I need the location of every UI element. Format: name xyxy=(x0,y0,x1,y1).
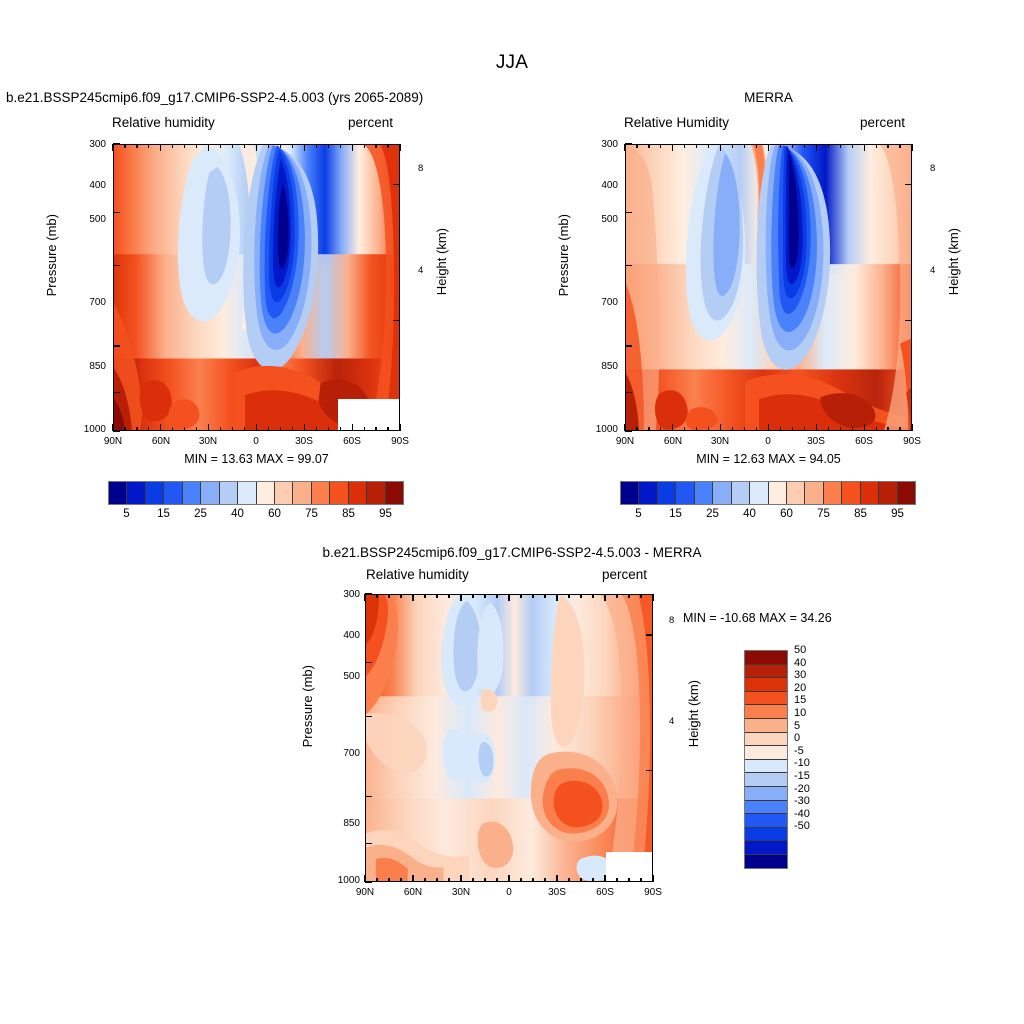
model-xtick-90S: 90S xyxy=(386,436,414,447)
obs-contour-plot[interactable] xyxy=(625,144,912,431)
colorbar-tick-label: 15 xyxy=(794,694,810,707)
obs-contour-field xyxy=(626,145,911,430)
obs-ytick-400: 400 xyxy=(590,180,618,191)
colorbar-cell[interactable] xyxy=(238,482,256,504)
colorbar-tick-label: 75 xyxy=(297,508,327,520)
colorbar-cell[interactable] xyxy=(658,482,676,504)
diff-colorbar-labels: 50403020151050-5-10-15-20-30-40-50 xyxy=(794,644,810,833)
colorbar-cell[interactable] xyxy=(127,482,145,504)
model-xtick-30N: 30N xyxy=(194,436,222,447)
obs-variable-label: Relative Humidity xyxy=(624,115,729,130)
colorbar-cell[interactable] xyxy=(349,482,367,504)
colorbar-tick-label: 5 xyxy=(112,508,142,520)
colorbar-cell[interactable] xyxy=(330,482,348,504)
diff-ytick-400: 400 xyxy=(332,630,360,641)
colorbar-cell[interactable] xyxy=(676,482,694,504)
model-ytick-1000: 1000 xyxy=(74,424,106,435)
colorbar-cell[interactable] xyxy=(824,482,842,504)
colorbar-cell[interactable] xyxy=(769,482,787,504)
colorbar-cell[interactable] xyxy=(745,855,787,868)
colorbar-tick-label: 95 xyxy=(883,508,913,520)
colorbar-tick-label: 25 xyxy=(698,508,728,520)
colorbar-cell[interactable] xyxy=(745,787,787,801)
obs-colorbar[interactable] xyxy=(620,481,916,505)
colorbar-cell[interactable] xyxy=(257,482,275,504)
diff-xtick-90S: 90S xyxy=(639,887,667,898)
colorbar-tick-label: 85 xyxy=(846,508,876,520)
colorbar-cell[interactable] xyxy=(220,482,238,504)
colorbar-tick-label: 50 xyxy=(794,644,810,657)
colorbar-cell[interactable] xyxy=(275,482,293,504)
colorbar-cell[interactable] xyxy=(695,482,713,504)
colorbar-cell[interactable] xyxy=(745,746,787,760)
colorbar-cell[interactable] xyxy=(750,482,768,504)
colorbar-cell[interactable] xyxy=(842,482,860,504)
colorbar-tick-label: 20 xyxy=(794,682,810,695)
diff-xtick-30S: 30S xyxy=(543,887,571,898)
colorbar-tick-label: 40 xyxy=(794,657,810,670)
colorbar-cell[interactable] xyxy=(621,482,639,504)
diff-ytick-1000: 1000 xyxy=(328,875,360,886)
model-panel-title: b.e21.BSSP245cmip6.f09_g17.CMIP6-SSP2-4.… xyxy=(6,90,423,105)
colorbar-cell[interactable] xyxy=(732,482,750,504)
colorbar-tick-label: 5 xyxy=(624,508,654,520)
colorbar-tick-label: -5 xyxy=(794,745,810,758)
model-xtick-90N: 90N xyxy=(99,436,127,447)
colorbar-cell[interactable] xyxy=(639,482,657,504)
model-contour-plot[interactable] xyxy=(113,144,400,431)
colorbar-tick-label: 5 xyxy=(794,720,810,733)
obs-y2tick-4: 4 xyxy=(930,265,935,276)
diff-y2axis-title: Height (km) xyxy=(686,680,701,747)
diff-yaxis-title: Pressure (mb) xyxy=(300,665,315,747)
colorbar-tick-label: 60 xyxy=(772,508,802,520)
model-ytick-500: 500 xyxy=(78,214,106,225)
obs-panel-title: MERRA xyxy=(625,90,912,105)
diff-xtick-90N: 90N xyxy=(351,887,379,898)
obs-xtick-90S: 90S xyxy=(898,436,926,447)
diff-colorbar-group[interactable]: 50403020151050-5-10-15-20-30-40-50 xyxy=(744,650,788,869)
colorbar-tick-label: 95 xyxy=(371,508,401,520)
colorbar-tick-label: -40 xyxy=(794,808,810,821)
colorbar-cell[interactable] xyxy=(787,482,805,504)
colorbar-cell[interactable] xyxy=(745,692,787,706)
colorbar-cell[interactable] xyxy=(312,482,330,504)
colorbar-tick-label: 30 xyxy=(794,669,810,682)
model-ytick-400: 400 xyxy=(78,180,106,191)
colorbar-cell[interactable] xyxy=(879,482,897,504)
model-ytick-700: 700 xyxy=(78,297,106,308)
model-variable-label: Relative humidity xyxy=(112,115,215,130)
colorbar-tick-label: 15 xyxy=(661,508,691,520)
model-contour-field xyxy=(114,145,399,430)
diff-missing-data-region xyxy=(606,852,652,881)
model-xtick-30S: 30S xyxy=(290,436,318,447)
colorbar-cell[interactable] xyxy=(745,841,787,855)
diff-ytick-700: 700 xyxy=(332,748,360,759)
colorbar-tick-label: 60 xyxy=(260,508,290,520)
colorbar-cell[interactable] xyxy=(805,482,823,504)
model-y2tick-4: 4 xyxy=(418,265,423,276)
colorbar-tick-label: 75 xyxy=(809,508,839,520)
colorbar-cell[interactable] xyxy=(745,801,787,815)
colorbar-cell[interactable] xyxy=(898,482,915,504)
obs-ytick-300: 300 xyxy=(590,139,618,150)
diff-xtick-60N: 60N xyxy=(399,887,427,898)
obs-colorbar-labels: 515254060758595 xyxy=(620,508,916,524)
obs-y2tick-8: 8 xyxy=(930,163,935,174)
diff-xtick-60S: 60S xyxy=(591,887,619,898)
colorbar-cell[interactable] xyxy=(745,773,787,787)
colorbar-cell[interactable] xyxy=(745,733,787,747)
colorbar-tick-label: 40 xyxy=(223,508,253,520)
diff-contour-field xyxy=(366,595,652,881)
colorbar-cell[interactable] xyxy=(745,828,787,842)
model-xtick-60N: 60N xyxy=(147,436,175,447)
colorbar-cell[interactable] xyxy=(367,482,385,504)
colorbar-tick-label: 10 xyxy=(794,707,810,720)
diff-variable-label: Relative humidity xyxy=(366,567,469,582)
colorbar-cell[interactable] xyxy=(183,482,201,504)
colorbar-tick-label: 40 xyxy=(735,508,765,520)
colorbar-cell[interactable] xyxy=(745,760,787,774)
diff-units-label: percent xyxy=(602,567,647,582)
diff-ytick-850: 850 xyxy=(332,818,360,829)
diff-ytick-300: 300 xyxy=(332,589,360,600)
colorbar-cell[interactable] xyxy=(146,482,164,504)
colorbar-tick-label: -50 xyxy=(794,820,810,833)
colorbar-cell[interactable] xyxy=(745,814,787,828)
obs-ytick-1000: 1000 xyxy=(586,424,618,435)
obs-xtick-0: 0 xyxy=(754,436,782,447)
diff-y2tick-8: 8 xyxy=(669,615,674,626)
colorbar-cell[interactable] xyxy=(861,482,879,504)
model-missing-data-region xyxy=(338,399,399,430)
diff-contour-plot[interactable] xyxy=(365,594,653,882)
obs-xtick-30N: 30N xyxy=(706,436,734,447)
colorbar-cell[interactable] xyxy=(293,482,311,504)
colorbar-cell[interactable] xyxy=(745,678,787,692)
colorbar-tick-label: 0 xyxy=(794,732,810,745)
colorbar-cell[interactable] xyxy=(201,482,219,504)
model-xtick-0: 0 xyxy=(242,436,270,447)
diff-xtick-0: 0 xyxy=(495,887,523,898)
diff-panel-title: b.e21.BSSP245cmip6.f09_g17.CMIP6-SSP2-4.… xyxy=(162,545,862,560)
obs-ytick-700: 700 xyxy=(590,297,618,308)
obs-y2axis-title: Height (km) xyxy=(946,228,961,295)
colorbar-tick-label: -10 xyxy=(794,757,810,770)
colorbar-cell[interactable] xyxy=(713,482,731,504)
diff-xtick-30N: 30N xyxy=(447,887,475,898)
model-minmax-label: MIN = 13.63 MAX = 99.07 xyxy=(113,452,400,466)
colorbar-cell[interactable] xyxy=(109,482,127,504)
colorbar-tick-label: -20 xyxy=(794,783,810,796)
obs-xtick-90N: 90N xyxy=(611,436,639,447)
colorbar-tick-label: -30 xyxy=(794,795,810,808)
colorbar-tick-label: -15 xyxy=(794,770,810,783)
model-yaxis-title: Pressure (mb) xyxy=(44,214,59,296)
model-units-label: percent xyxy=(348,115,393,130)
colorbar-tick-label: 85 xyxy=(334,508,364,520)
colorbar-cell[interactable] xyxy=(386,482,403,504)
obs-ytick-850: 850 xyxy=(590,361,618,372)
model-ytick-850: 850 xyxy=(78,361,106,372)
model-ytick-300: 300 xyxy=(78,139,106,150)
colorbar-cell[interactable] xyxy=(164,482,182,504)
model-xtick-60S: 60S xyxy=(338,436,366,447)
colorbar-cell[interactable] xyxy=(745,665,787,679)
model-y2tick-8: 8 xyxy=(418,163,423,174)
diff-colorbar[interactable] xyxy=(744,650,788,869)
colorbar-cell[interactable] xyxy=(745,651,787,665)
obs-xtick-60S: 60S xyxy=(850,436,878,447)
obs-yaxis-title: Pressure (mb) xyxy=(556,214,571,296)
colorbar-tick-label: 25 xyxy=(186,508,216,520)
diff-ytick-500: 500 xyxy=(332,671,360,682)
model-y2axis-title: Height (km) xyxy=(434,228,449,295)
obs-units-label: percent xyxy=(860,115,905,130)
colorbar-tick-label: 15 xyxy=(149,508,179,520)
model-colorbar-labels: 515254060758595 xyxy=(108,508,404,524)
diff-minmax-label: MIN = -10.68 MAX = 34.26 xyxy=(683,611,832,625)
obs-xtick-30S: 30S xyxy=(802,436,830,447)
model-colorbar[interactable] xyxy=(108,481,404,505)
obs-minmax-label: MIN = 12.63 MAX = 94.05 xyxy=(625,452,912,466)
colorbar-cell[interactable] xyxy=(745,705,787,719)
colorbar-cell[interactable] xyxy=(745,719,787,733)
diff-y2tick-4: 4 xyxy=(669,716,674,727)
season-title: JJA xyxy=(0,52,1024,74)
obs-ytick-500: 500 xyxy=(590,214,618,225)
obs-xtick-60N: 60N xyxy=(659,436,687,447)
